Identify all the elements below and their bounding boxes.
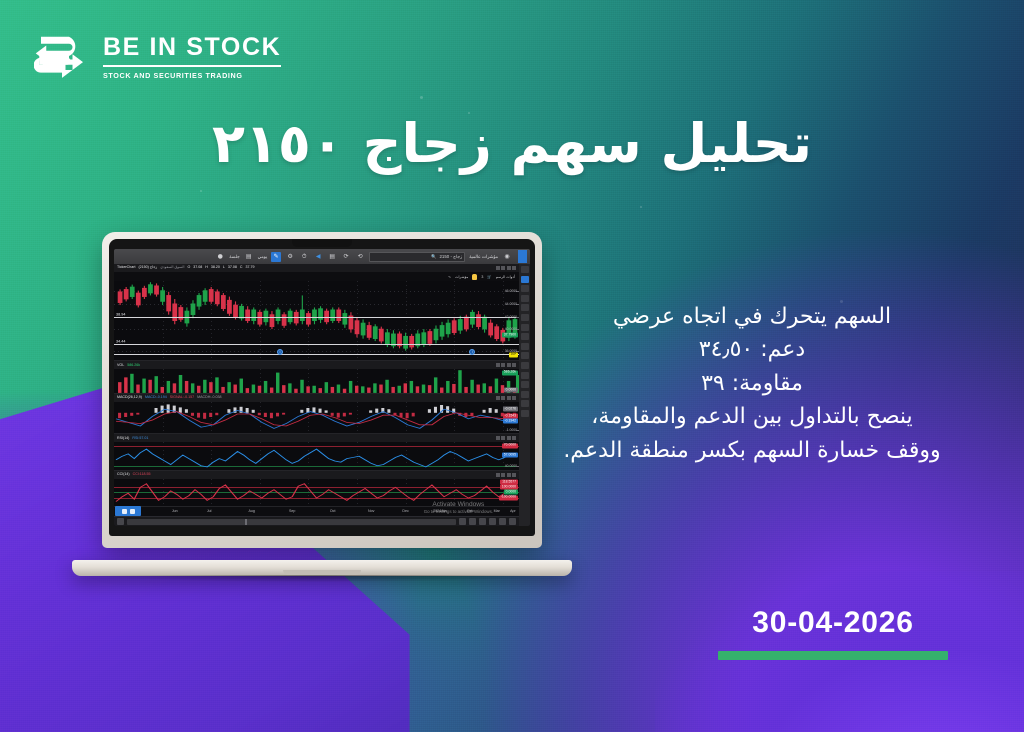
candlestick-series [114,281,519,360]
brand-tagline: STOCK AND SECURITIES TRADING [103,65,281,80]
publish-date: 30-04-2026 [718,606,948,640]
macd-legend: MACD(26,12,9) MACD:-0.194 SIGNAL:-0.157 … [114,394,519,402]
last-price-badge: 37.7900 [502,332,518,337]
volume-legend: VOL 586.26k [114,361,519,369]
lightbulb-icon[interactable] [472,274,477,280]
laptop-shadow [92,575,552,582]
rsi-legend-title: RSI(14) [117,437,129,441]
rsi-pane[interactable]: 70.0000 57.0095 40.0000 [114,442,519,470]
price-tick: 40.0000 [505,327,517,331]
shapes-icon[interactable] [521,324,529,331]
date-block: 30-04-2026 [718,606,948,660]
legend-high: 38.20 [211,266,220,270]
legend-open: 37.08 [193,266,202,270]
axis-draw-tool[interactable] [115,506,141,516]
alert-badge[interactable]: خط [509,352,518,357]
legend-open-label: O [187,266,190,270]
toolbar-accent-tab[interactable] [518,250,527,263]
analysis-line-support: دعم: ٣٤٫٥٠ [532,333,972,366]
macd-legend-title: MACD(26,12,9) [117,396,142,400]
legend-low-label: L [223,266,225,270]
terminal-toolbar: ● جلسة ▤ يومي ✎ ⚙ ⏱ ◀ ▤ ⟳ ⟲ 🔍 زجاج - 215… [114,249,530,264]
cci-legend-value: CCI:118.55 [133,473,151,477]
rsi-value-badge: 57.0095 [502,452,518,457]
trendline-icon[interactable] [521,285,529,292]
price-tick: 46.0000 [505,289,517,293]
chevron-right-icon[interactable] [459,518,466,525]
symbol-legend: TickerChart زجاج (2150) السوق السعودي O … [114,264,519,272]
redo-icon[interactable]: ⟳ [341,252,351,262]
pane-controls[interactable] [496,396,516,400]
time-tick: 2024Jan [433,509,447,513]
time-tick: Mar [494,509,500,513]
legend-close-label: C [240,266,243,270]
volume-legend-title: VOL [117,364,124,368]
lock-icon[interactable] [521,400,529,407]
indicator-count: 3 [481,275,483,279]
legend-market: السوق السعودي [160,266,184,270]
cci-legend: CCI(14) CCI:118.55 [114,471,519,479]
laptop-notch [292,239,352,247]
cursor-icon[interactable] [521,266,529,273]
drawing-tools-rail[interactable] [519,264,530,526]
rsi-legend-value: RSI:57.01 [132,437,148,441]
legend-low: 37.08 [228,266,237,270]
brush-icon[interactable] [521,304,529,311]
brand-text: BE IN STOCK STOCK AND SECURITIES TRADING [103,32,281,80]
time-tick: Apr [510,509,516,513]
alert-bell-icon[interactable]: ◀ [313,252,323,262]
time-axis[interactable]: Jun Jul Aug Sep Oct Nov Dec 2024Jan Feb … [114,506,519,516]
scrollbar-thumb[interactable] [245,519,247,525]
drawing-tools-label[interactable]: أدوات الرسم [496,275,515,279]
support-line[interactable] [114,344,519,345]
cci-pane[interactable]: 118.5577 100.0000 0.0000 -100.0000 [114,479,519,506]
watchlist-label[interactable]: مؤشرات عالمية [469,254,498,260]
lower-guide-line[interactable] [114,354,519,355]
chart-marker[interactable]: i [469,349,475,355]
rsi-legend: RSI(14) RSI:57.01 [114,434,519,442]
be-in-stock-arrows-logo-icon [34,28,90,84]
macd-hist-badge: -0.0276 [503,407,519,412]
pane-controls[interactable] [496,266,516,270]
flag-icon[interactable] [521,352,529,359]
toolbar-timeframe-label: يومي [258,254,268,260]
support-label: 34.44 [116,339,126,343]
watchlist-icon[interactable]: ◉ [502,252,512,262]
laptop-bezel: ● جلسة ▤ يومي ✎ ⚙ ⏱ ◀ ▤ ⟳ ⟲ 🔍 زجاج - 215… [109,239,535,536]
cart-icon[interactable]: 🛒 [487,275,491,279]
status-bar [114,516,519,526]
page-title: تحليل سهم زجاج ٢١٥٠ [0,112,1024,175]
macd-series [114,402,519,433]
volume-zero-badge: 0.0000 [504,388,518,393]
toolbar-session-label: جلسة [229,254,239,260]
laptop-base [72,560,572,576]
user-icon[interactable]: ● [215,252,225,262]
pencil-icon[interactable]: ✎ [271,252,281,262]
layers-icon[interactable]: ▤ [327,252,337,262]
laptop-lid: ● جلسة ▤ يومي ✎ ⚙ ⏱ ◀ ▤ ⟳ ⟲ 🔍 زجاج - 215… [102,232,542,548]
ruler-icon [122,509,127,514]
fit-right-icon[interactable] [479,518,486,525]
macd-legend-hist: MACDH:-0.038 [197,396,221,400]
sparkline-icon: ∿ [448,275,451,279]
analysis-text: السهم يتحرك في اتجاه عرضي دعم: ٣٤٫٥٠ مقا… [532,300,972,467]
cci-upper-badge: 100.0000 [500,484,518,489]
pane-controls[interactable] [496,473,516,477]
cci-series [114,479,519,506]
crosshair-icon[interactable] [521,276,529,283]
sparkle-dot [420,96,423,99]
fibonacci-icon[interactable] [521,295,529,302]
cci-lower-badge: -100.0000 [499,495,518,500]
indicators-label[interactable]: مؤشرات [455,275,468,279]
fit-left-icon[interactable] [469,518,476,525]
text-icon[interactable] [521,314,529,321]
zoom-out-icon[interactable] [499,518,506,525]
chart-tool-row: أدوات الرسم 🛒 3 مؤشرات ∿ [114,272,519,281]
time-tick: Dec [402,509,408,513]
analysis-line-trend: السهم يتحرك في اتجاه عرضي [532,300,972,333]
clock-icon[interactable]: ⏱ [299,252,309,262]
date-underline [718,651,948,660]
chevron-left-icon[interactable] [117,518,124,525]
laptop-mockup: ● جلسة ▤ يومي ✎ ⚙ ⏱ ◀ ▤ ⟳ ⟲ 🔍 زجاج - 215… [72,232,572,582]
sparkle-dot [640,206,642,208]
chart-area: TickerChart زجاج (2150) السوق السعودي O … [114,264,530,526]
legend-high-label: H [205,266,208,270]
price-pane[interactable]: 38.94 34.44 i i 46.0000 44.0000 [114,281,519,361]
time-tick: Jun [172,509,178,513]
legend-close: 37.79 [245,266,254,270]
time-tick: Jul [207,509,212,513]
search-value: زجاج - 2150 [439,254,462,260]
resistance-label: 38.94 [116,312,126,316]
eye-icon[interactable] [521,391,529,398]
trash-icon[interactable] [521,410,529,417]
brand-name: BE IN STOCK [103,35,281,60]
analysis-line-advice-2: ووقف خسارة السهم بكسر منطقة الدعم. [532,434,972,467]
price-tick: 42.0000 [505,315,517,319]
settings-icon[interactable] [521,362,529,369]
price-tick: 44.0000 [505,302,517,306]
search-icon: 🔍 [431,254,436,260]
resistance-line[interactable] [114,317,519,318]
layout-icon[interactable] [521,372,529,379]
magnet-icon[interactable] [521,381,529,388]
time-tick: Feb [467,509,473,513]
terminal-screen: ● جلسة ▤ يومي ✎ ⚙ ⏱ ◀ ▤ ⟳ ⟲ 🔍 زجاج - 215… [114,249,530,526]
abc-icon[interactable] [521,343,529,350]
pencil-icon [130,509,135,514]
legend-source: TickerChart [117,266,135,270]
macd-legend-signal: SIGNAL:-0.157 [170,396,194,400]
timeframe-icon[interactable]: ▤ [244,252,254,262]
brand-logo[interactable]: BE IN STOCK STOCK AND SECURITIES TRADING [34,28,281,84]
cci-zero-badge: 0.0000 [504,490,518,495]
pane-controls[interactable] [496,436,516,440]
macd-legend-macd: MACD:-0.194 [145,396,167,400]
reset-zoom-icon[interactable] [489,518,496,525]
volume-legend-value: 586.26k [127,364,140,368]
analysis-line-advice-1: ينصح بالتداول بين الدعم والمقاومة، [532,400,972,433]
settings-icon[interactable]: ⚙ [285,252,295,262]
time-tick: Sep [289,509,295,513]
symbol-search-input[interactable]: 🔍 زجاج - 2150 [369,252,465,262]
volume-bars [114,369,519,393]
horizontal-scrollbar[interactable] [127,519,456,525]
time-tick: Oct [330,509,336,513]
legend-symbol: زجاج (2150) [138,266,157,270]
sparkle-dot [200,190,202,192]
pane-controls[interactable] [496,363,516,367]
time-tick: Aug [248,509,254,513]
volume-badge: 586.26k [502,370,518,375]
volume-pane[interactable]: 586.26k 0.0000 [114,369,519,394]
undo-icon[interactable]: ⟲ [355,252,365,262]
chart-marker[interactable]: i [277,349,283,355]
cci-legend-title: CCI(14) [117,473,130,477]
macd-pane[interactable]: -0.0276 -0.1543 -0.1942 -1.0000 [114,402,519,434]
rsi-overbought-badge: 70.0000 [502,443,518,448]
analysis-line-resistance: مقاومة: ٣٩ [532,367,972,400]
time-tick: Nov [368,509,374,513]
measure-icon[interactable] [521,333,529,340]
chart-panes: TickerChart زجاج (2150) السوق السعودي O … [114,264,519,526]
zoom-in-icon[interactable] [509,518,516,525]
rsi-series [114,442,519,469]
macd-value-badge: -0.1942 [503,418,519,423]
